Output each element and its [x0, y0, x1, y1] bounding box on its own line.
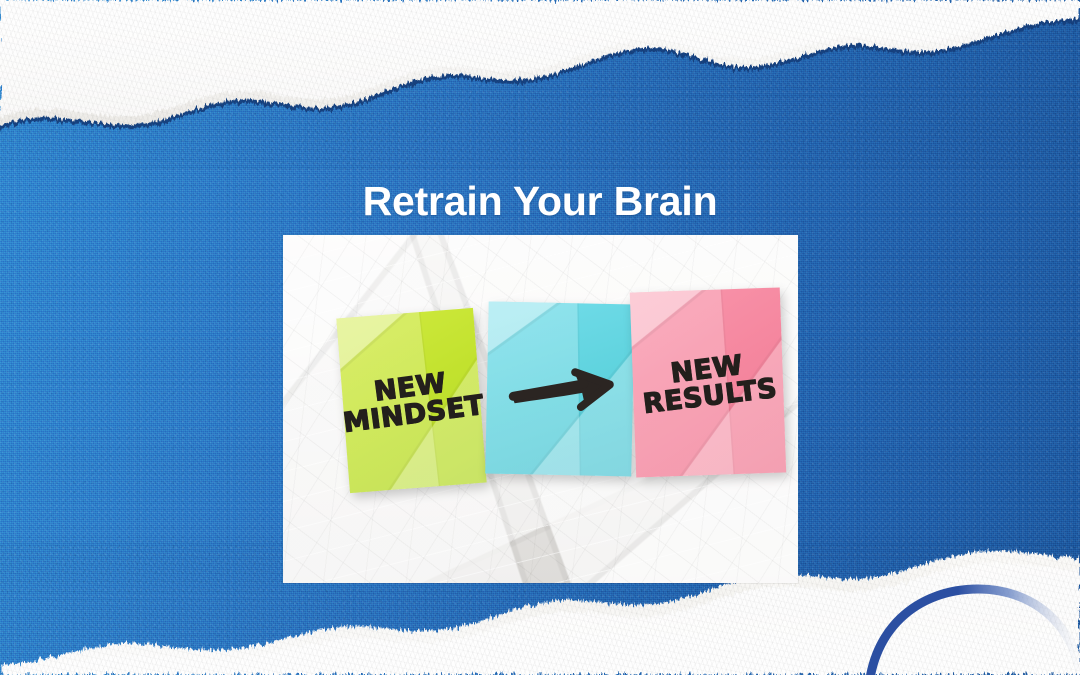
- note-pink-line2: RESULTS: [641, 372, 778, 419]
- page-title: Retrain Your Brain: [0, 178, 1080, 224]
- note-sheen-pink: [630, 287, 786, 477]
- sticky-note-cyan: [485, 301, 635, 476]
- sticky-note-pink-text: NEW RESULTS: [638, 347, 778, 417]
- note-pink-line1: NEW: [669, 349, 745, 389]
- slide-canvas: Retrain Your Brain NEW MINDSET: [0, 0, 1080, 675]
- content-image: NEW MINDSET NEW RESULTS: [283, 235, 798, 583]
- sticky-note-pink: NEW RESULTS: [630, 287, 786, 477]
- torn-top-svg: [0, 0, 1080, 170]
- arrow-right-glyph: [505, 359, 616, 418]
- note-green-line2: MINDSET: [341, 389, 486, 438]
- note-sheen-green: [336, 308, 486, 493]
- sticky-note-green: NEW MINDSET: [336, 308, 486, 493]
- torn-paper-top-edge: [0, 0, 1080, 170]
- note-green-line1: NEW: [372, 367, 448, 407]
- arrow-right-icon: [485, 301, 635, 476]
- sticky-note-green-text: NEW MINDSET: [338, 364, 486, 436]
